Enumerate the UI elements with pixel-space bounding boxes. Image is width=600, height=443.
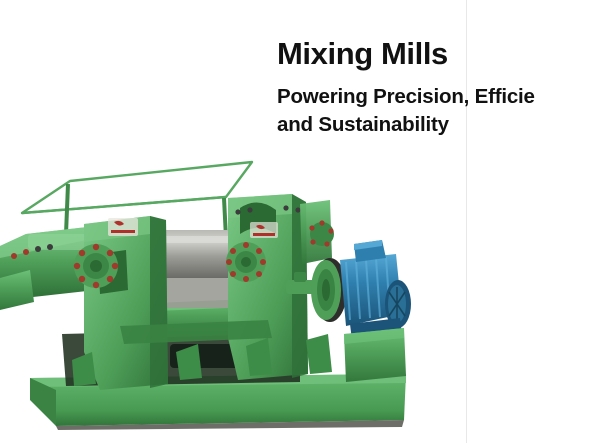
bolt-flange-right	[226, 242, 266, 282]
left-frame-housing	[84, 216, 168, 390]
far-right-frame-edge	[300, 200, 334, 264]
electric-motor	[340, 240, 411, 340]
brand-decal-right	[250, 222, 278, 238]
page-subtitle: Powering Precision, Efficie and Sustaina…	[277, 83, 600, 140]
brand-decal-left	[108, 218, 138, 236]
mixing-mill-image	[0, 138, 412, 430]
motor-pedestal	[344, 328, 406, 382]
heading-block: Mixing Mills Powering Precision, Efficie…	[277, 38, 600, 139]
subtitle-line-2: and Sustainability	[277, 111, 600, 139]
slide-canvas: Mixing Mills Powering Precision, Efficie…	[0, 0, 600, 443]
subtitle-line-1: Powering Precision, Efficie	[277, 83, 600, 111]
mixing-mill-illustration	[0, 138, 412, 430]
safety-trip-bar	[22, 162, 252, 213]
bolt-flange-left	[74, 244, 118, 288]
page-title: Mixing Mills	[277, 38, 600, 71]
